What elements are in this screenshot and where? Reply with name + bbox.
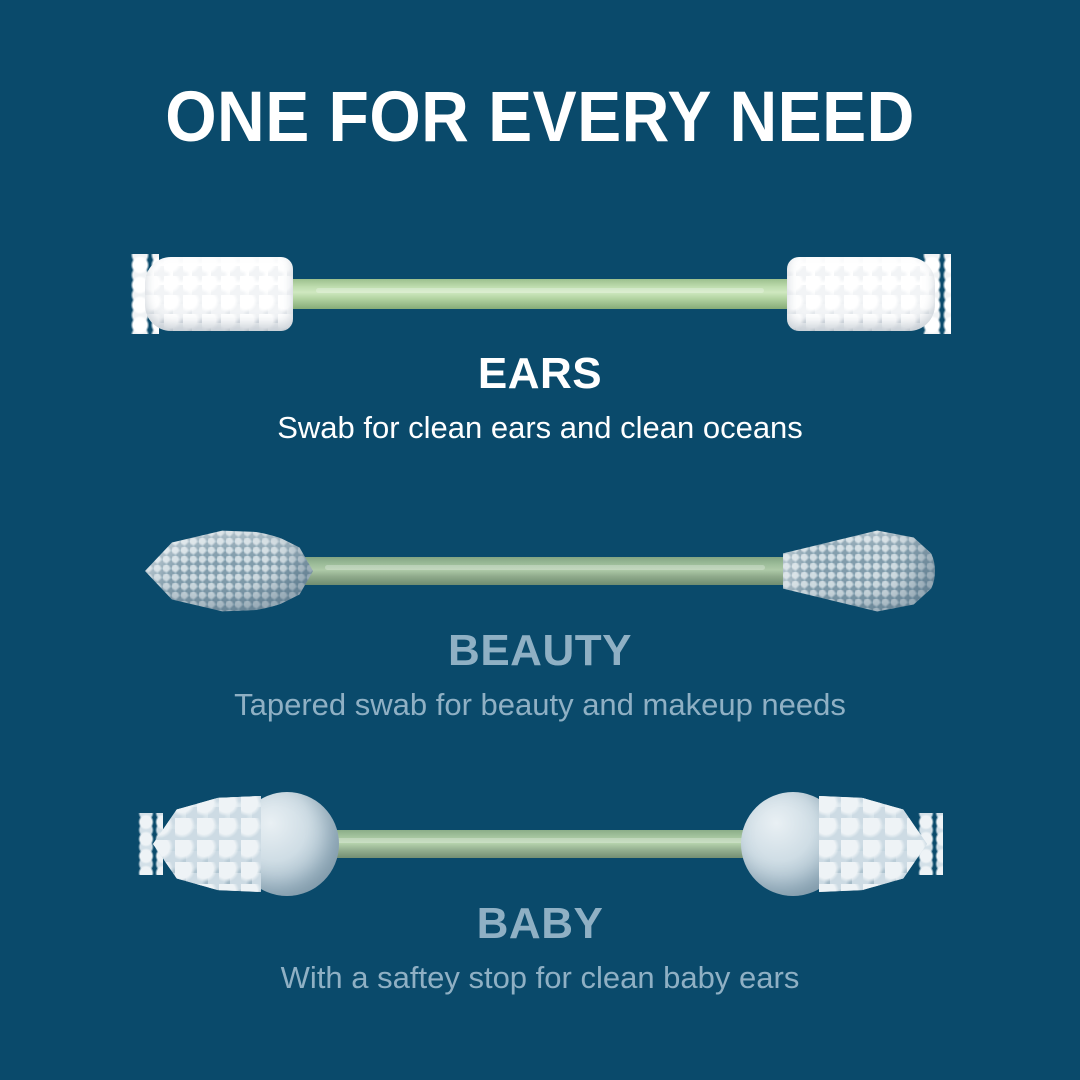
swab-tip-right-icon xyxy=(783,527,935,615)
swab-illustration-ears xyxy=(0,238,1080,350)
swab-tip-right-icon xyxy=(787,257,935,331)
swab-stem-icon xyxy=(300,830,790,858)
swab-tip-left-icon xyxy=(145,257,293,331)
swab-tip-right-icon xyxy=(819,796,927,892)
product-subtitle-ears: Swab for clean ears and clean oceans xyxy=(0,410,1080,446)
page-title: ONE FOR EVERY NEED xyxy=(38,82,1042,153)
swab-stem-icon xyxy=(285,279,795,309)
product-heading-baby: BABY xyxy=(0,902,1080,946)
product-heading-ears: EARS xyxy=(0,352,1080,396)
product-block-ears: EARS Swab for clean ears and clean ocean… xyxy=(0,238,1080,446)
product-infographic: ONE FOR EVERY NEED EARS Swab for clean e… xyxy=(0,0,1080,1080)
swab-illustration-baby xyxy=(0,788,1080,900)
swab-tip-left-icon xyxy=(153,796,261,892)
swab-illustration-beauty xyxy=(0,515,1080,627)
swab-tip-left-icon xyxy=(145,529,313,613)
swab-stem-icon xyxy=(295,557,795,585)
product-subtitle-beauty: Tapered swab for beauty and makeup needs xyxy=(0,687,1080,723)
product-block-baby: BABY With a saftey stop for clean baby e… xyxy=(0,788,1080,996)
product-heading-beauty: BEAUTY xyxy=(0,629,1080,673)
product-subtitle-baby: With a saftey stop for clean baby ears xyxy=(0,960,1080,996)
product-block-beauty: BEAUTY Tapered swab for beauty and makeu… xyxy=(0,515,1080,723)
